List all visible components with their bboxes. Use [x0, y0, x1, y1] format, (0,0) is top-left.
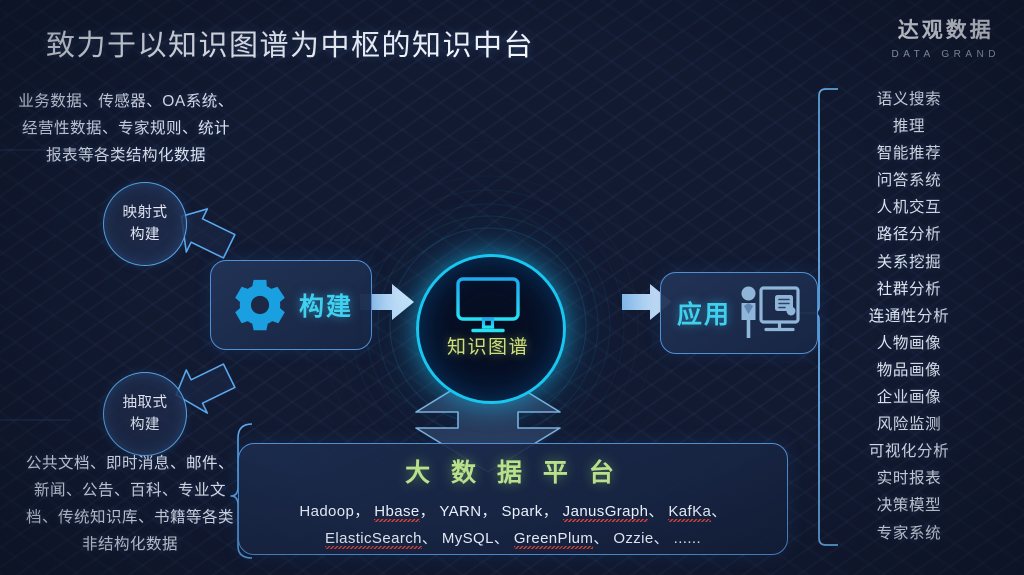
- application-list-item[interactable]: 问答系统: [846, 167, 972, 194]
- presenter-icon: [735, 284, 801, 342]
- method-circle-extraction[interactable]: 抽取式 构建: [103, 372, 187, 456]
- application-list-item[interactable]: 智能推荐: [846, 140, 972, 167]
- tech-separator: ，: [420, 503, 435, 520]
- unstructured-source-text: 公共文档、即时消息、邮件、新闻、公告、百科、专业文档、传统知识库、书籍等各类非结…: [24, 450, 236, 558]
- tech-token: ElasticSearch: [325, 530, 422, 547]
- application-list-item[interactable]: 实时报表: [846, 465, 972, 492]
- application-list-item[interactable]: 人物画像: [846, 330, 972, 357]
- tech-token: YARN: [439, 503, 481, 520]
- application-list-item[interactable]: 关系挖掘: [846, 249, 972, 276]
- logo-english: DATA GRAND: [891, 49, 1000, 60]
- tech-token: MySQL: [442, 530, 494, 547]
- tech-separator: ，: [543, 503, 558, 520]
- knowledge-graph-label: 知识图谱: [398, 332, 578, 359]
- build-stage-box[interactable]: 构建: [210, 260, 372, 350]
- application-list-item[interactable]: 可视化分析: [846, 438, 972, 465]
- tech-separator: 、: [593, 530, 608, 547]
- page-title: 致力于以知识图谱为中枢的知识中台: [46, 22, 534, 64]
- application-list-item[interactable]: 专家系统: [846, 520, 972, 547]
- tech-token: KafKa: [668, 503, 711, 520]
- tech-token: Hadoop: [299, 503, 354, 520]
- tech-separator: ......: [674, 530, 701, 547]
- application-list-item[interactable]: 风险监测: [846, 411, 972, 438]
- tech-token: Ozzie: [613, 530, 653, 547]
- method-mapping-line1: 映射式: [123, 202, 168, 224]
- knowledge-graph-node[interactable]: 知识图谱: [398, 236, 578, 416]
- method-mapping-line2: 构建: [130, 224, 160, 246]
- tech-token: Hbase: [374, 503, 419, 520]
- tech-separator: 、: [711, 503, 726, 520]
- brand-logo: 达观数据 DATA GRAND: [891, 14, 1000, 60]
- application-list-item[interactable]: 推理: [846, 113, 972, 140]
- build-label: 构建: [299, 287, 353, 323]
- method-circle-mapping[interactable]: 映射式 构建: [103, 182, 187, 266]
- gear-icon: [229, 274, 291, 336]
- platform-title: 大 数 据 平 台: [239, 453, 787, 489]
- application-list-item[interactable]: 物品画像: [846, 357, 972, 384]
- monitor-icon: [455, 276, 521, 336]
- tech-token: Spark: [502, 503, 543, 520]
- big-data-platform-box[interactable]: 大 数 据 平 台 Hadoop， Hbase， YARN， Spark， Ja…: [238, 443, 788, 555]
- tech-token: GreenPlum: [514, 530, 593, 547]
- method-extraction-line2: 构建: [130, 414, 160, 436]
- tech-token: JanusGraph: [563, 503, 649, 520]
- application-stage-box[interactable]: 应用: [660, 272, 818, 354]
- logo-chinese: 达观数据: [891, 14, 1000, 44]
- platform-tech-line-1: Hadoop， Hbase， YARN， Spark， JanusGraph、 …: [239, 500, 787, 521]
- application-list-item[interactable]: 语义搜索: [846, 86, 972, 113]
- application-list-item[interactable]: 路径分析: [846, 221, 972, 248]
- tech-separator: 、: [654, 530, 669, 547]
- platform-tech-line-2: ElasticSearch、 MySQL、 GreenPlum、 Ozzie、 …: [239, 527, 787, 548]
- application-list-item[interactable]: 社群分析: [846, 276, 972, 303]
- application-list-item[interactable]: 连通性分析: [846, 303, 972, 330]
- tech-separator: 、: [422, 530, 437, 547]
- application-list-item[interactable]: 企业画像: [846, 384, 972, 411]
- method-extraction-line1: 抽取式: [123, 392, 168, 414]
- application-list: 语义搜索推理智能推荐问答系统人机交互路径分析关系挖掘社群分析连通性分析人物画像物…: [846, 86, 972, 547]
- application-label: 应用: [677, 295, 731, 331]
- structured-source-text: 业务数据、传感器、OA系统、经营性数据、专家规则、统计报表等各类结构化数据: [18, 88, 234, 169]
- decor-lines: [0, 150, 96, 420]
- slide-canvas: 致力于以知识图谱为中枢的知识中台 达观数据 DATA GRAND 业务数据、传感…: [0, 0, 1024, 575]
- tech-separator: ，: [482, 503, 497, 520]
- tech-separator: 、: [648, 503, 663, 520]
- tech-separator: ，: [354, 503, 369, 520]
- tech-separator: 、: [494, 530, 509, 547]
- application-list-item[interactable]: 人机交互: [846, 194, 972, 221]
- application-list-item[interactable]: 决策模型: [846, 492, 972, 519]
